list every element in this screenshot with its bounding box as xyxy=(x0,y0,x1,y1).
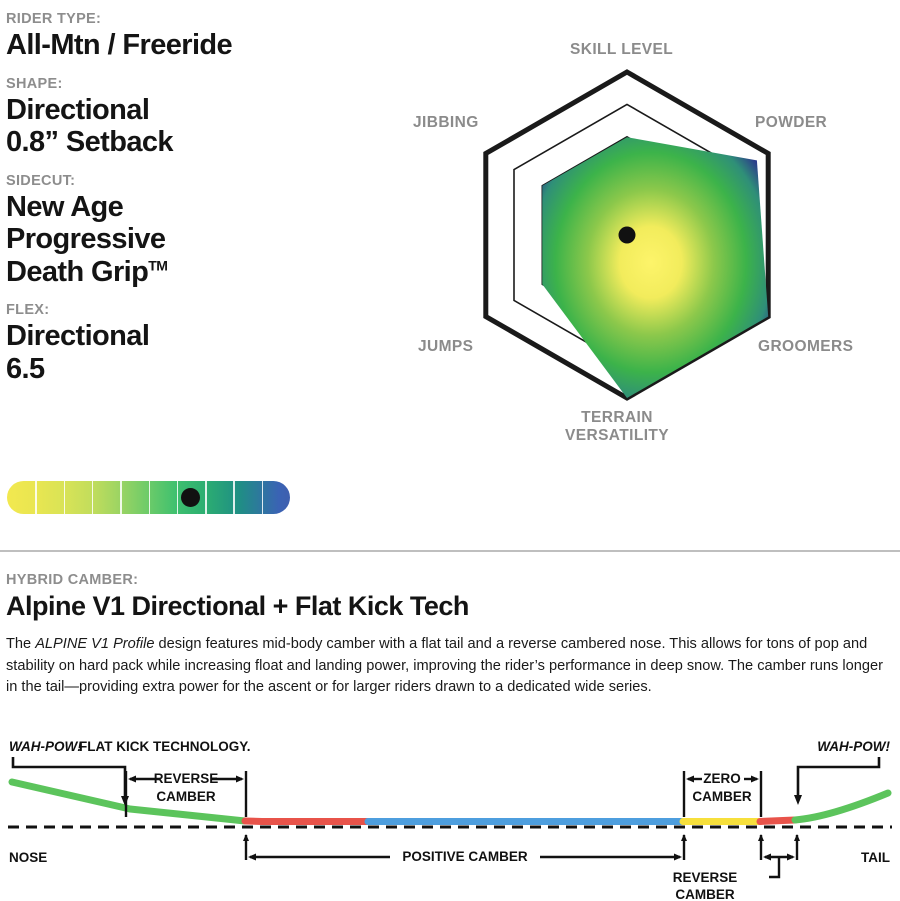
pc-left-arrowhead xyxy=(248,854,256,861)
tail-reverse-camber-segment xyxy=(760,820,795,822)
rc-left-arrowhead xyxy=(128,776,136,783)
spec-value-sidecut-line2: Progressive xyxy=(6,223,165,255)
spec-label-sidecut: SIDECUT: xyxy=(6,172,366,190)
spec-label-shape: SHAPE: xyxy=(6,75,366,93)
trc-left-up-arrow xyxy=(758,834,764,841)
radar-data-polygon xyxy=(542,137,768,398)
board-profile-line xyxy=(12,782,888,822)
flex-meter-track[interactable] xyxy=(7,481,290,514)
spec-label-flex: FLEX: xyxy=(6,301,366,319)
flex-tick xyxy=(35,481,37,514)
board-spec-sheet: RIDER TYPE: All-Mtn / Freeride SHAPE: Di… xyxy=(0,0,900,901)
spec-value-sidecut: New Age Progressive Death GripTM xyxy=(6,191,366,288)
spec-rider-type: RIDER TYPE: All-Mtn / Freeride xyxy=(6,10,366,62)
pc-right-up-arrow xyxy=(681,834,687,841)
radar-axis-label-groomers: GROOMERS xyxy=(758,338,853,356)
performance-radar-chart: SKILL LEVEL POWDER GROOMERS TERRAINVERSA… xyxy=(380,14,900,469)
tail-kick-leader xyxy=(794,757,879,805)
pc-left-up-arrow xyxy=(243,834,249,841)
flex-tick xyxy=(177,481,179,514)
nose-transition-segment xyxy=(130,809,245,821)
flex-tick xyxy=(262,481,264,514)
nose-label: NOSE xyxy=(9,850,47,865)
spec-value-shape-line2: 0.8” Setback xyxy=(6,126,173,158)
wahpow-right-label: WAH-POW! xyxy=(817,739,890,754)
spec-shape: SHAPE: Directional 0.8” Setback xyxy=(6,75,366,159)
flex-tick xyxy=(205,481,207,514)
tail-label: TAIL xyxy=(861,850,890,865)
radar-axis-label-jibbing: JIBBING xyxy=(413,114,479,132)
trc-right-up-arrow xyxy=(794,834,800,841)
flex-value-marker[interactable] xyxy=(181,488,200,507)
flex-meter[interactable] xyxy=(7,481,290,514)
radar-svg xyxy=(380,14,900,469)
pc-right-arrowhead xyxy=(674,854,682,861)
spec-flex: FLEX: Directional 6.5 xyxy=(6,301,366,385)
spec-value-shape: Directional 0.8” Setback xyxy=(6,94,366,159)
section-divider xyxy=(0,550,900,552)
spec-sidecut: SIDECUT: New Age Progressive Death GripT… xyxy=(6,172,366,289)
reverse-camber-nose-label-line1: REVERSE xyxy=(154,771,219,786)
flex-tick xyxy=(233,481,235,514)
spec-list: RIDER TYPE: All-Mtn / Freeride SHAPE: Di… xyxy=(6,10,366,398)
spec-value-flex-line2: 6.5 xyxy=(6,353,45,385)
radar-center-marker xyxy=(619,227,636,244)
description-emphasis: ALPINE V1 Profile xyxy=(35,636,154,652)
positive-camber-label: POSITIVE CAMBER xyxy=(402,849,528,864)
zero-camber-label-line1: ZERO xyxy=(703,771,741,786)
wahpow-left-italic-label: WAH-POW! xyxy=(9,739,82,754)
flex-tick xyxy=(64,481,66,514)
tail-kick-segment xyxy=(795,793,888,820)
zero-camber-label-line2: CAMBER xyxy=(692,789,751,804)
hybrid-camber-title: Alpine V1 Directional + Flat Kick Tech xyxy=(6,591,894,621)
spec-value-shape-line1: Directional xyxy=(6,94,149,126)
spec-value-flex-line1: Directional xyxy=(6,320,149,352)
zc-right-arrowhead xyxy=(751,776,759,783)
reverse-camber-tail-label-line2: CAMBER xyxy=(675,887,734,901)
reverse-camber-nose-label-line2: CAMBER xyxy=(156,789,215,804)
spec-value-flex: Directional 6.5 xyxy=(6,320,366,385)
radar-axis-label-terrain-versatility: TERRAINVERSATILITY xyxy=(565,409,669,446)
tail-kick-leader-path xyxy=(798,757,879,801)
trc-right-arrowhead xyxy=(787,854,795,861)
trc-left-arrowhead xyxy=(763,854,771,861)
spec-label-rider-type: RIDER TYPE: xyxy=(6,10,366,28)
radar-axis-label-skill-level: SKILL LEVEL xyxy=(570,41,673,59)
hybrid-camber-label: HYBRID CAMBER: xyxy=(6,572,894,588)
camber-profile-diagram: WAH-POW! FLAT KICK TECHNOLOGY. REVERSE C… xyxy=(0,735,900,901)
spec-value-rider-type: All-Mtn / Freeride xyxy=(6,29,366,61)
reverse-camber-tail-label-line1: REVERSE xyxy=(673,870,738,885)
hybrid-camber-section: HYBRID CAMBER: Alpine V1 Directional + F… xyxy=(6,572,894,699)
spec-value-sidecut-line3: Death Grip xyxy=(6,256,148,288)
radar-axis-label-jumps: JUMPS xyxy=(418,338,473,356)
rc-right-arrowhead xyxy=(236,776,244,783)
trademark-symbol: TM xyxy=(148,257,167,273)
description-pre: The xyxy=(6,636,35,652)
camber-svg: WAH-POW! FLAT KICK TECHNOLOGY. REVERSE C… xyxy=(0,735,900,901)
radar-axis-label-powder: POWDER xyxy=(755,114,827,132)
flat-kick-technology-label: FLAT KICK TECHNOLOGY. xyxy=(79,739,251,754)
hybrid-camber-description: The ALPINE V1 Profile design features mi… xyxy=(6,634,892,699)
spec-value-sidecut-line1: New Age xyxy=(6,191,123,223)
tail-reverse-camber-bracket xyxy=(758,834,800,877)
flex-tick xyxy=(120,481,122,514)
zc-left-arrowhead xyxy=(686,776,694,783)
nose-kick-segment xyxy=(12,782,130,809)
flex-tick xyxy=(92,481,94,514)
tail-kick-arrowhead xyxy=(794,795,802,805)
flex-tick xyxy=(149,481,151,514)
